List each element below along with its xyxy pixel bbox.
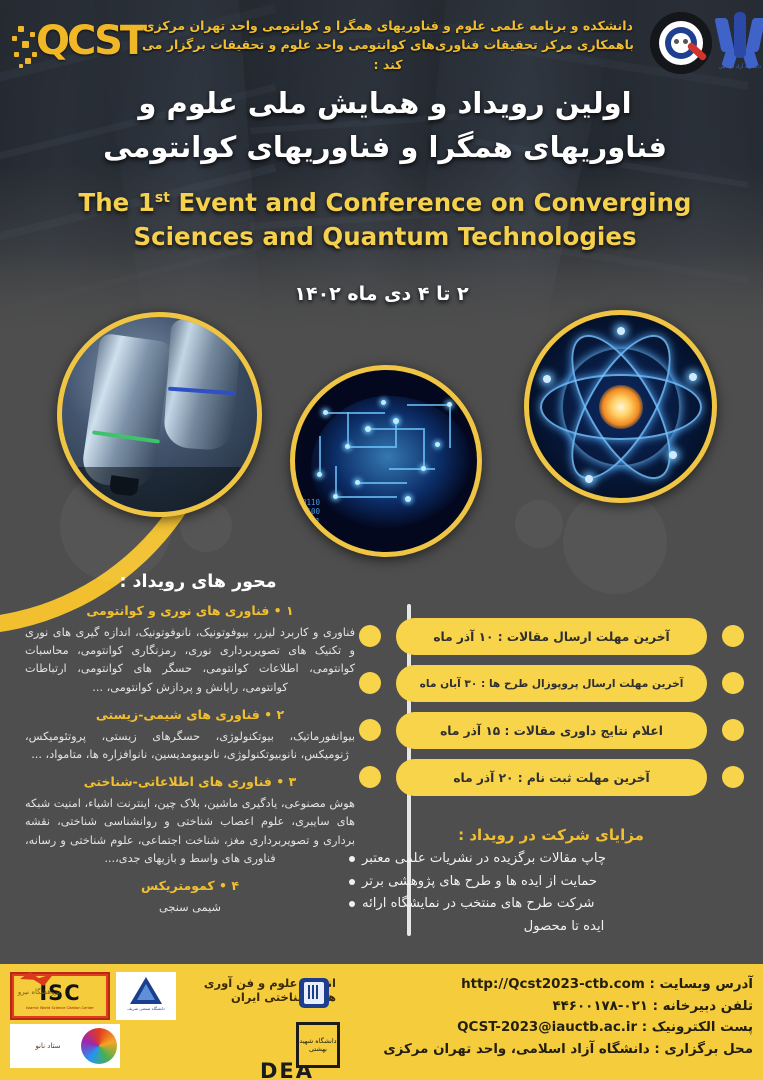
english-title-line-2: Sciences and Quantum Technologies	[50, 220, 720, 254]
benefit-text: شرکت طرح های منتخب در نمایشگاه ارائه	[362, 893, 594, 916]
english-title: The 1st Event and Conference on Convergi…	[50, 186, 720, 254]
persian-title-line-1: اولین رویداد و همایش ملی علوم و	[70, 82, 700, 126]
email-value[interactable]: QCST-2023@iauctb.ac.ir	[457, 1017, 637, 1039]
axis-number: ۱	[286, 603, 294, 618]
english-title-rest: Event and Conference on Converging	[178, 188, 691, 217]
pill-bead-left	[359, 766, 381, 788]
axis-title: ۲ • فناوری های شیمی-زیستی	[25, 706, 355, 725]
website-label: آدرس وبسایت :	[649, 977, 753, 992]
benefits-list: چاپ مقالات برگزیده در نشریات علمی معتبر …	[349, 848, 749, 939]
axis-item: ۳ • فناوری های اطلاعاتی-شناختی هوش مصنوع…	[25, 773, 355, 868]
axis-title-text: فناوری های شیمی-زیستی	[96, 707, 260, 722]
deadline-pill[interactable]: آخرین مهلت ثبت نام : ۲۰ آذر ماه	[396, 759, 707, 796]
deadline-row: آخرین مهلت ثبت نام : ۲۰ آذر ماه	[354, 757, 749, 804]
pill-bead-right	[722, 766, 744, 788]
venue-value: دانشگاه آزاد اسلامی، واحد تهران مرکزی	[383, 1042, 649, 1057]
benefit-item: حمایت از ایده ها و طرح های پژوهشی برتر	[349, 871, 749, 894]
soft-circle-decoration	[515, 500, 563, 548]
benefits-heading: مزایای شرکت در رویداد :	[351, 826, 751, 844]
axis-body: هوش مصنوعی، یادگیری ماشین، بلاک چین، این…	[25, 795, 355, 868]
organizer-text: دانشکده و برنامه علمی علوم و فناوریهای ه…	[138, 16, 638, 74]
nano-initiative-logo: ستاد نانو	[10, 1024, 120, 1068]
azad-university-logo: دانشگاه آزاد اسلامی	[718, 10, 762, 78]
persian-title: اولین رویداد و همایش ملی علوم و فناوریها…	[70, 82, 700, 169]
axis-title-text: کمومتریکس	[141, 878, 215, 893]
deadline-row: آخرین مهلت ارسال پروپوزال طرح ها : ۳۰ آب…	[354, 663, 749, 710]
venue-row: محل برگزاری : دانشگاه آزاد اسلامی، واحد …	[333, 1039, 753, 1061]
axis-title: ۱ • فناوری های نوری و کوانتومی	[25, 602, 355, 621]
axis-body: شیمی سنجی	[25, 899, 355, 917]
axes-list: ۱ • فناوری های نوری و کوانتومی فناوری و …	[25, 602, 355, 926]
contact-details: آدرس وبسایت : http://Qcst2023-ctb.com تل…	[333, 974, 753, 1061]
contact-info-icon	[299, 978, 329, 1008]
axis-item: ۲ • فناوری های شیمی-زیستی بیوانفورماتیک،…	[25, 706, 355, 764]
axis-title-text: فناوری های اطلاعاتی-شناختی	[84, 774, 272, 789]
phone-row: تلفن دبیرخانه : ۰۲۱-۴۴۶۰۰۱۷۸	[333, 996, 753, 1018]
deadline-pill[interactable]: اعلام نتایج داوری مقالات : ۱۵ آذر ماه	[396, 712, 707, 749]
axis-title: ۴ • کمومتریکس	[25, 877, 355, 896]
pill-bead-left	[359, 625, 381, 647]
binary-code-overlay: 0110 0100 1001 1001	[302, 498, 320, 536]
qcst-logo-text: QCST	[36, 18, 144, 64]
pill-bead-right	[722, 625, 744, 647]
venue-label: محل برگزاری :	[654, 1042, 753, 1057]
phone-label: تلفن دبیرخانه :	[653, 999, 753, 1014]
digital-brain-circuit-image: 0110 0100 1001 1001	[290, 365, 482, 557]
phone-value: ۰۲۱-۴۴۶۰۰۱۷۸	[552, 999, 647, 1014]
deadline-row: اعلام نتایج داوری مقالات : ۱۵ آذر ماه	[354, 710, 749, 757]
persian-title-line-2: فناوریهای همگرا و فناوریهای کوانتومی	[70, 126, 700, 170]
benefit-text: چاپ مقالات برگزیده در نشریات علمی معتبر	[362, 848, 606, 871]
english-title-ordinal-suffix: st	[155, 190, 170, 206]
sponsor-logos: ISC Islamic World Science Citation Cente…	[6, 970, 336, 1074]
deadline-pill[interactable]: آخرین مهلت ارسال مقالات : ۱۰ آذر ماه	[396, 618, 707, 655]
website-value[interactable]: http://Qcst2023-ctb.com	[461, 974, 645, 996]
pill-bead-right	[722, 672, 744, 694]
axis-number: ۳	[289, 774, 297, 789]
axis-number: ۴	[231, 878, 239, 893]
axis-number: ۲	[276, 707, 284, 722]
axis-title: ۳ • فناوری های اطلاعاتی-شناختی	[25, 773, 355, 792]
microscope-objective-lens-image	[57, 312, 262, 517]
deadline-pill[interactable]: آخرین مهلت ارسال پروپوزال طرح ها : ۳۰ آب…	[396, 665, 707, 702]
benefit-tail-text: ایده تا محصول	[349, 916, 749, 939]
pill-bead-left	[359, 672, 381, 694]
sharif-logo-caption: دانشگاه صنعتی شریف	[120, 1006, 172, 1011]
benefit-text: حمایت از ایده ها و طرح های پژوهشی برتر	[362, 871, 597, 894]
organizer-line-1: دانشکده و برنامه علمی علوم و فناوریهای ه…	[138, 16, 638, 35]
niroo-logo-caption: پژوهشگاه نیرو	[6, 988, 72, 996]
deadlines-list: آخرین مهلت ارسال مقالات : ۱۰ آذر ماه آخر…	[354, 616, 749, 804]
axes-heading: محور های رویداد :	[63, 572, 333, 592]
benefit-item: شرکت طرح های منتخب در نمایشگاه ارائه	[349, 893, 749, 916]
axis-body: فناوری و کاربرد لیزر، بیوفوتونیک، نانوفو…	[25, 624, 355, 697]
footer-bar: ISC Islamic World Science Citation Cente…	[0, 964, 763, 1080]
isc-logo-subtitle: Islamic World Science Citation Center	[26, 1006, 94, 1010]
bullet-icon	[349, 856, 355, 862]
organizer-line-2: باهمکاری مرکز تحقیقات فناوری‌های کوانتوم…	[138, 35, 638, 74]
english-title-ordinal-prefix: The 1	[79, 188, 155, 217]
azad-logo-caption: دانشگاه آزاد اسلامی	[718, 64, 762, 70]
axis-title-text: فناوری های نوری و کوانتومی	[86, 603, 269, 618]
bullet-icon	[349, 901, 355, 907]
conference-poster: QCST دانشکده و برنامه علمی علوم و فناوری…	[0, 0, 763, 1080]
pill-bead-left	[359, 719, 381, 741]
pill-bead-right	[722, 719, 744, 741]
beheshti-logo-caption: دانشگاه شهید بهشتی	[299, 1025, 337, 1065]
qcst-research-center-logo	[650, 12, 712, 74]
event-date: ۲ تا ۴ دی ماه ۱۴۰۲	[0, 283, 763, 305]
soft-circle-decoration	[563, 490, 667, 594]
email-row: پست الکترونیک : QCST-2023@iauctb.ac.ir	[333, 1017, 753, 1039]
benefit-item: چاپ مقالات برگزیده در نشریات علمی معتبر	[349, 848, 749, 871]
atom-orbitals-image	[524, 310, 717, 503]
axis-item: ۴ • کمومتریکس شیمی سنجی	[25, 877, 355, 917]
qcst-brand-logo: QCST	[10, 8, 138, 76]
axis-body: بیوانفورماتیک، بیوتکنولوژی، حسگرهای زیست…	[25, 728, 355, 765]
bullet-icon	[349, 879, 355, 885]
email-label: پست الکترونیک :	[642, 1020, 753, 1035]
nano-logo-caption: ستاد نانو	[13, 1042, 83, 1050]
sharif-university-logo: دانشگاه صنعتی شریف	[116, 972, 176, 1020]
axis-item: ۱ • فناوری های نوری و کوانتومی فناوری و …	[25, 602, 355, 697]
website-row: آدرس وبسایت : http://Qcst2023-ctb.com	[333, 974, 753, 996]
english-title-line-1: The 1st Event and Conference on Convergi…	[50, 186, 720, 220]
deadline-row: آخرین مهلت ارسال مقالات : ۱۰ آذر ماه	[354, 616, 749, 663]
